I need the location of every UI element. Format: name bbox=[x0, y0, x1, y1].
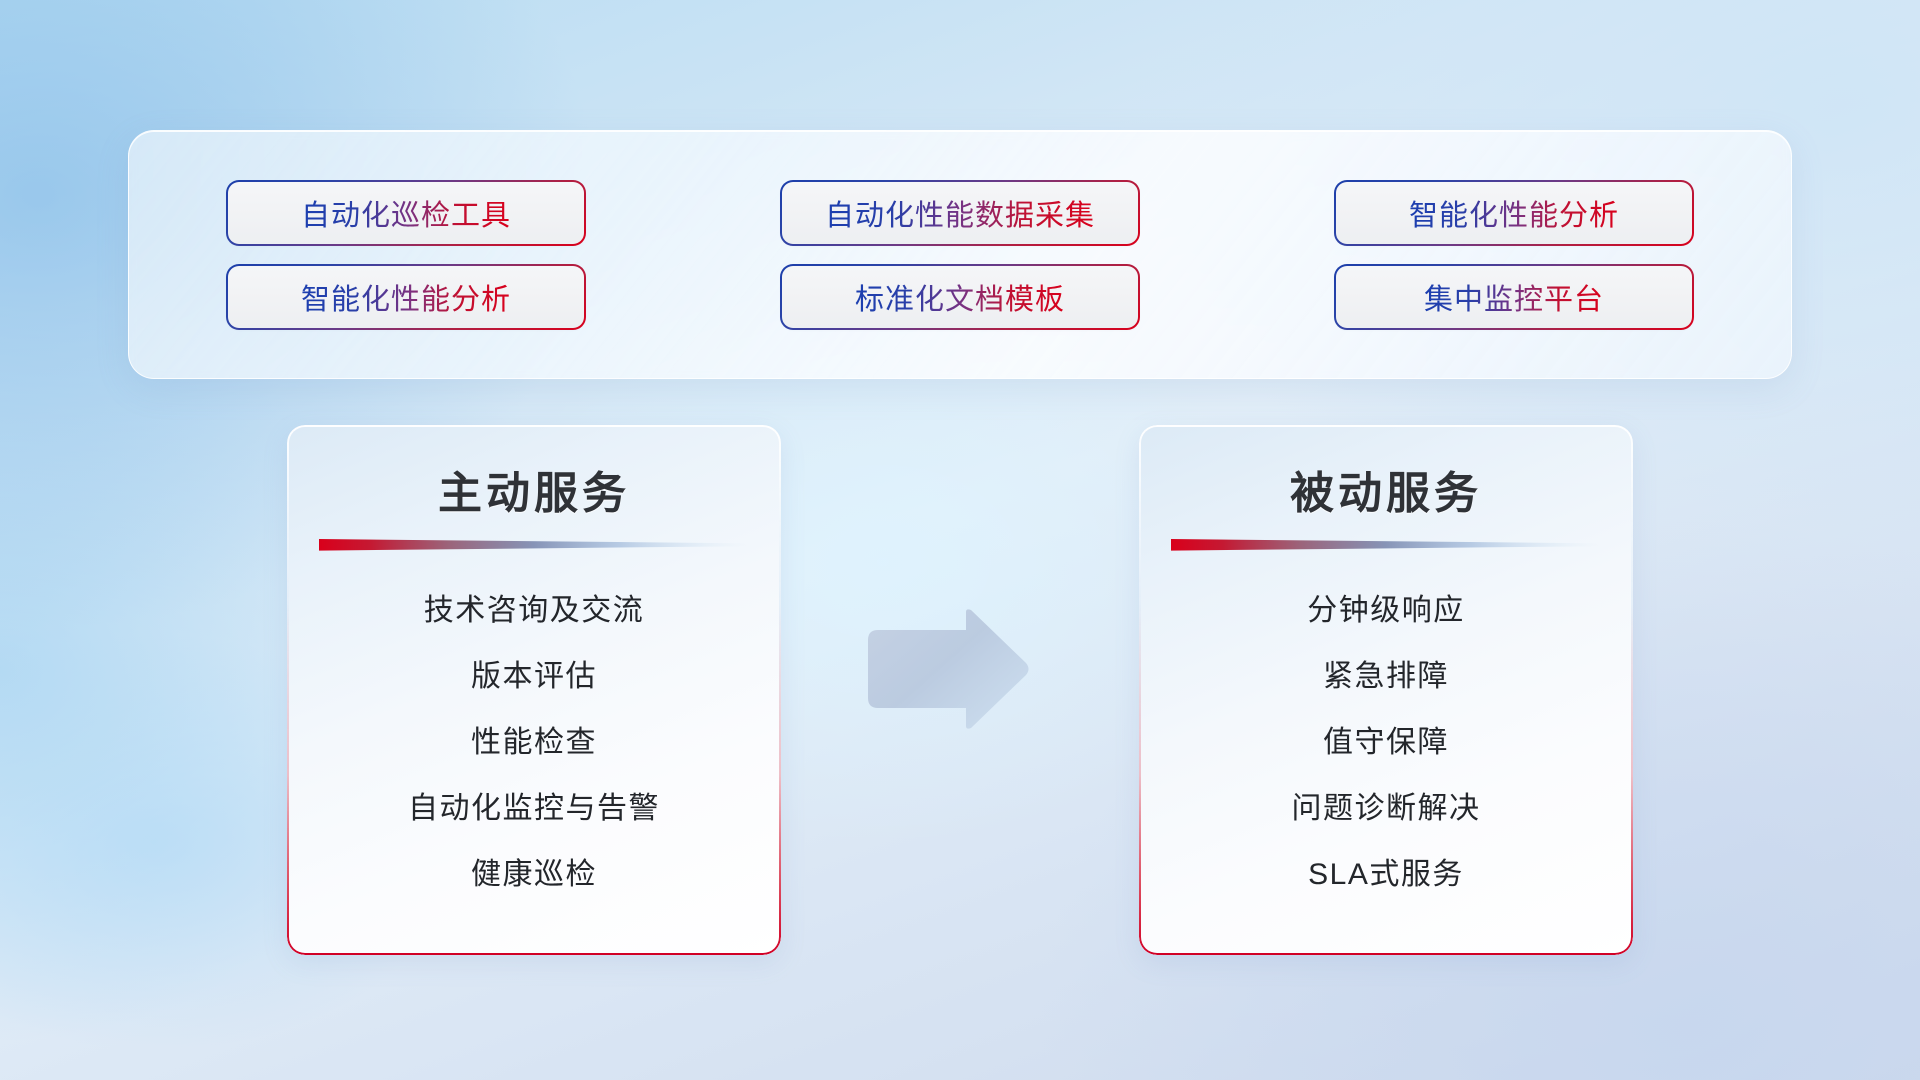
capability-tag-label: 集中监控平台 bbox=[1424, 276, 1604, 318]
card-title-divider bbox=[319, 537, 749, 553]
service-list-item: 问题诊断解决 bbox=[1292, 783, 1481, 827]
service-list-item: 性能检查 bbox=[471, 717, 597, 761]
service-list-item: 分钟级响应 bbox=[1307, 585, 1465, 629]
capability-tag-label: 智能化性能分析 bbox=[1409, 192, 1619, 234]
capability-tag-label: 自动化巡检工具 bbox=[301, 192, 511, 234]
capability-tag-row-2: 智能化性能分析 标准化文档模板 集中监控平台 bbox=[129, 266, 1791, 328]
diagram-stage: 自动化巡检工具 自动化性能数据采集 智能化性能分析 智能化性能分析 标准化文档模… bbox=[0, 0, 1920, 1080]
service-card-title: 主动服务 bbox=[438, 457, 630, 521]
capability-tag-panel: 自动化巡检工具 自动化性能数据采集 智能化性能分析 智能化性能分析 标准化文档模… bbox=[128, 130, 1792, 379]
card-title-divider bbox=[1171, 537, 1601, 553]
capability-tag[interactable]: 智能化性能分析 bbox=[228, 266, 584, 328]
service-list-item: 紧急排障 bbox=[1323, 651, 1449, 695]
capability-tag-row-1: 自动化巡检工具 自动化性能数据采集 智能化性能分析 bbox=[129, 182, 1791, 244]
service-item-list: 分钟级响应 紧急排障 值守保障 问题诊断解决 SLA式服务 bbox=[1139, 585, 1633, 893]
service-list-item: 技术咨询及交流 bbox=[424, 585, 645, 629]
capability-tag-label: 智能化性能分析 bbox=[301, 276, 511, 318]
capability-tag-label: 标准化文档模板 bbox=[855, 276, 1065, 318]
capability-tag[interactable]: 自动化巡检工具 bbox=[228, 182, 584, 244]
arrow-right-icon bbox=[862, 608, 1032, 730]
service-card-proactive: 主动服务 技术咨询及交流 版本评估 bbox=[287, 425, 781, 955]
capability-tag[interactable]: 集中监控平台 bbox=[1336, 266, 1692, 328]
capability-tag[interactable]: 智能化性能分析 bbox=[1336, 182, 1692, 244]
service-list-item: 健康巡检 bbox=[471, 849, 597, 893]
service-card-title: 被动服务 bbox=[1290, 457, 1482, 521]
service-list-item: 版本评估 bbox=[471, 651, 597, 695]
service-list-item: 自动化监控与告警 bbox=[408, 783, 660, 827]
service-card-reactive: 被动服务 分钟级响应 紧急排障 bbox=[1139, 425, 1633, 955]
service-item-list: 技术咨询及交流 版本评估 性能检查 自动化监控与告警 健康巡检 bbox=[287, 585, 781, 893]
capability-tag[interactable]: 自动化性能数据采集 bbox=[782, 182, 1138, 244]
capability-tag[interactable]: 标准化文档模板 bbox=[782, 266, 1138, 328]
service-list-item: SLA式服务 bbox=[1308, 849, 1464, 893]
capability-tag-label: 自动化性能数据采集 bbox=[825, 192, 1095, 234]
service-list-item: 值守保障 bbox=[1323, 717, 1449, 761]
